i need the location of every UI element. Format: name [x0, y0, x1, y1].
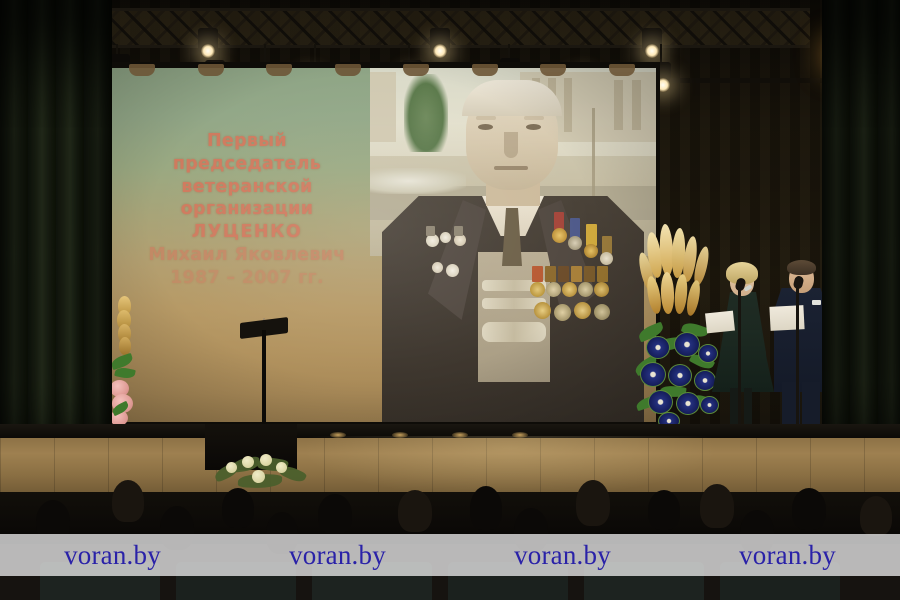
- audience-head: [700, 484, 734, 528]
- footlight-icon: [330, 432, 346, 438]
- bouquet-flower: [252, 470, 265, 483]
- footlight-icon: [452, 432, 468, 438]
- cornflower-icon: [674, 332, 700, 357]
- cornflower-icon: [640, 362, 666, 387]
- watermark-text: voran.by: [450, 540, 675, 571]
- stage-photograph: Первый председатель ветеранской организа…: [0, 0, 900, 600]
- cornflower-icon: [694, 370, 716, 391]
- audience-head: [576, 480, 610, 526]
- projection-screen: Первый председатель ветеранской организа…: [108, 68, 656, 422]
- flower-bouquet: [212, 452, 308, 488]
- audience-head: [470, 486, 502, 530]
- screen-clip-icon: [129, 64, 155, 76]
- audience-head: [112, 480, 144, 522]
- screen-clip-icon: [609, 64, 635, 76]
- spotlight-icon: [430, 28, 450, 54]
- mic-pole: [738, 290, 741, 438]
- cornflower-icon: [676, 392, 700, 415]
- stand-pole: [262, 330, 266, 434]
- audience-head: [222, 488, 254, 528]
- spotlight-icon: [198, 28, 218, 54]
- presenter-paper: [769, 305, 804, 331]
- lamp-hanger: [314, 44, 316, 64]
- footlight-icon: [392, 432, 408, 438]
- audience-head: [648, 490, 680, 530]
- screen-clip-icon: [540, 64, 566, 76]
- stage-curtain-left: [0, 0, 112, 478]
- screen-clip-icon: [472, 64, 498, 76]
- presenter-hair: [787, 260, 816, 275]
- stage-curtain-right: [822, 0, 900, 478]
- screen-vignette: [108, 68, 656, 422]
- bouquet-flower: [276, 462, 287, 473]
- screen-clip-icon: [198, 64, 224, 76]
- watermark-text: voran.by: [675, 540, 900, 571]
- bouquet-flower: [226, 462, 237, 473]
- audience-head: [318, 494, 352, 534]
- footlight-icon: [512, 432, 528, 438]
- audience-head: [860, 496, 892, 536]
- screen-clip-row: [108, 64, 656, 78]
- stage-floor-glow: [300, 436, 720, 498]
- screen-clip-icon: [403, 64, 429, 76]
- cornflower-icon: [668, 364, 692, 387]
- presenter-paper: [705, 311, 735, 334]
- bouquet-flower: [260, 454, 272, 466]
- cornflower-icon: [700, 396, 719, 414]
- watermark-text: voran.by: [225, 540, 450, 571]
- cornflower-icon: [646, 336, 670, 359]
- bouquet-flower: [242, 456, 254, 468]
- screen-clip-icon: [335, 64, 361, 76]
- audience-head: [398, 490, 432, 532]
- mic-pole: [796, 288, 799, 438]
- pocket-square: [812, 300, 821, 305]
- audience-head: [792, 488, 826, 530]
- cornflower-icon: [698, 344, 718, 363]
- cornflower-icon: [648, 390, 673, 414]
- watermark-row: voran.by voran.by voran.by voran.by: [0, 534, 900, 576]
- watermark-text: voran.by: [0, 540, 225, 571]
- spotlight-icon: [642, 28, 662, 54]
- screen-clip-icon: [266, 64, 292, 76]
